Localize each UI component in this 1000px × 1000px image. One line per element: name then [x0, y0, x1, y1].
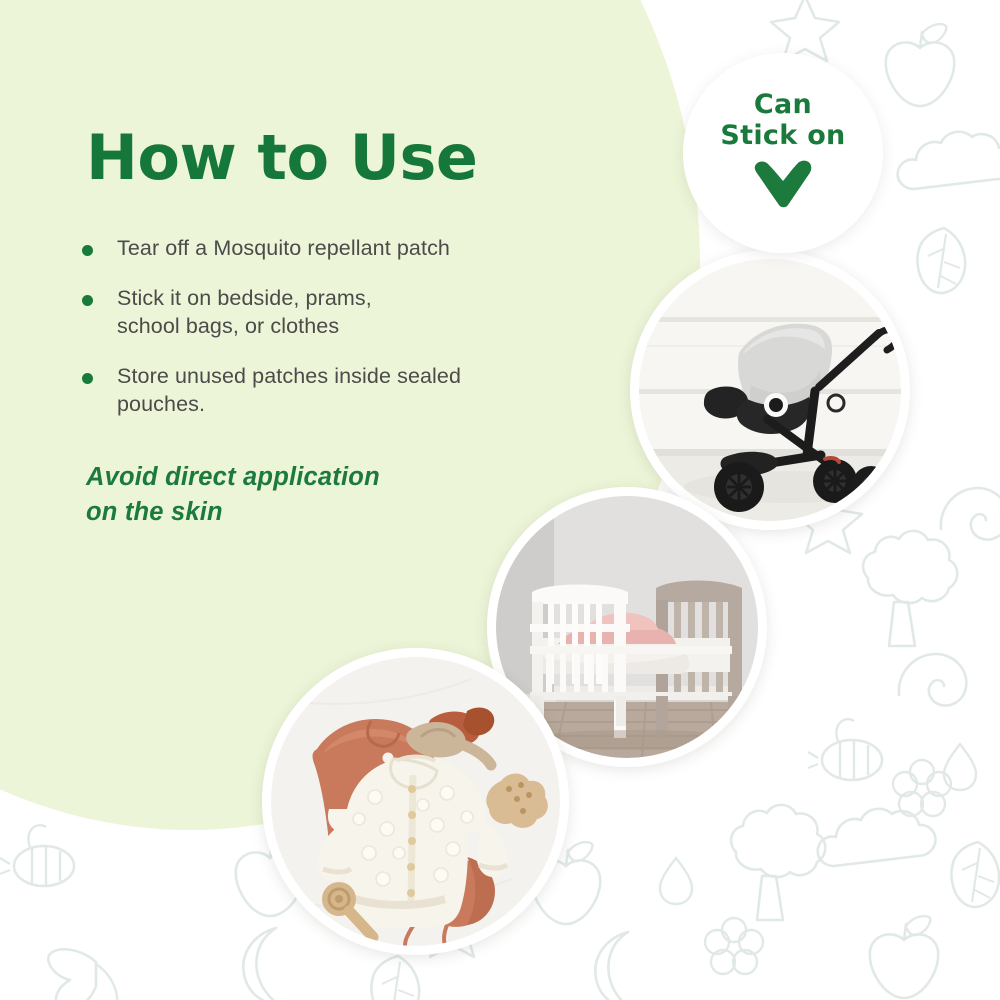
- page-title: How to Use: [86, 125, 477, 190]
- baby-clothes-photo: [262, 648, 569, 955]
- chevron-down-icon: [751, 160, 815, 210]
- list-item: Tear off a Mosquito repellant patch: [82, 234, 602, 263]
- avoid-direct-application-note: Avoid direct application on the skin: [86, 460, 380, 530]
- list-item: Store unused patches inside sealed pouch…: [82, 362, 602, 419]
- steps-list: Tear off a Mosquito repellant patch Stic…: [82, 234, 602, 440]
- can-stick-on-badge: Can Stick on: [683, 53, 883, 253]
- step-text: Tear off a Mosquito repellant patch: [117, 234, 602, 263]
- step-text: Store unused patches inside sealed pouch…: [117, 362, 602, 419]
- bullet-dot-icon: [82, 295, 93, 306]
- baby-clothes-image: [271, 657, 560, 946]
- list-item: Stick it on bedside, prams, school bags,…: [82, 284, 602, 341]
- baby-stroller-image: [639, 259, 901, 521]
- badge-line-1: Can: [754, 90, 812, 121]
- step-text: Stick it on bedside, prams, school bags,…: [117, 284, 602, 341]
- bullet-dot-icon: [82, 245, 93, 256]
- badge-line-2: Stick on: [720, 121, 845, 152]
- baby-stroller-photo: [630, 250, 910, 530]
- bullet-dot-icon: [82, 373, 93, 384]
